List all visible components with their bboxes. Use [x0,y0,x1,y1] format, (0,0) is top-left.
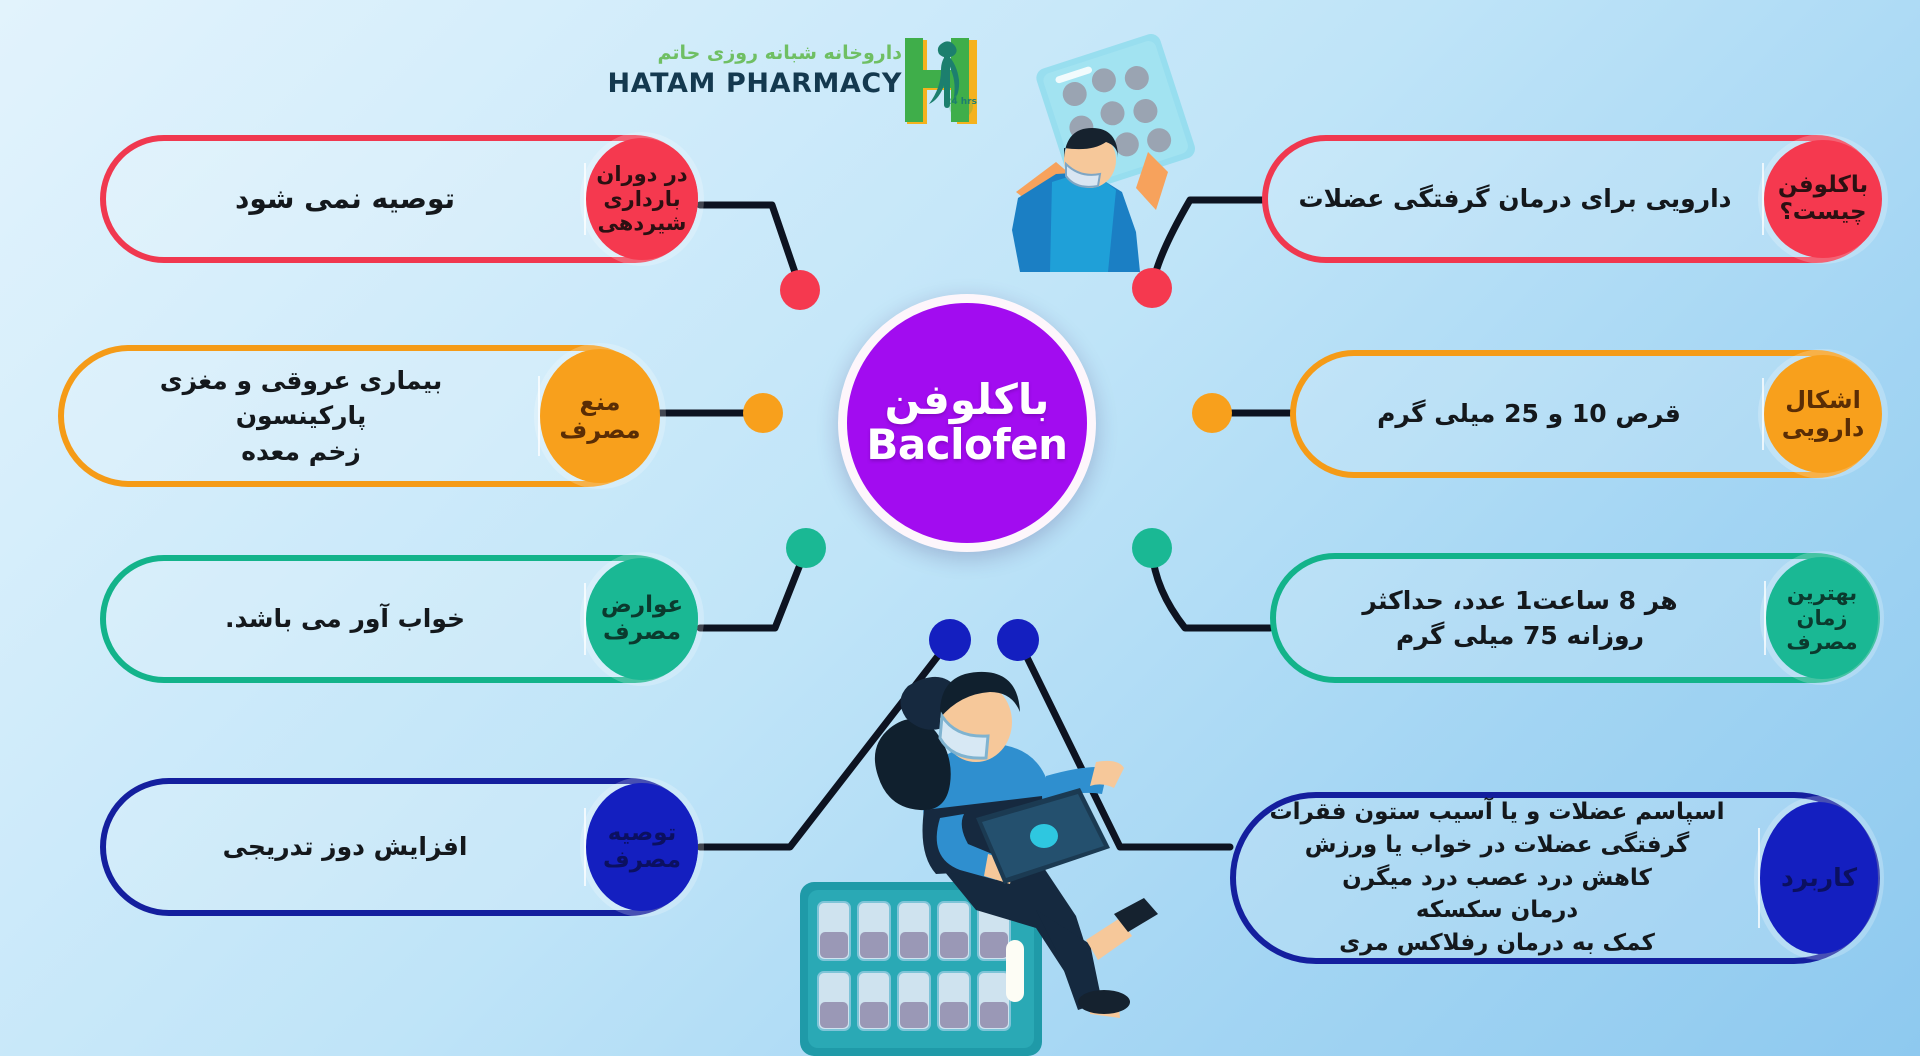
card-right-2-text: قرص 10 و 25 میلی گرم [1377,396,1681,432]
dot-left-pink [780,270,820,310]
card-left-2-badge[interactable]: منع مصرف [540,349,660,483]
card-right-4-body: اسپاسم عضلات و یا آسیب ستون فقرات گرفتگی… [1236,798,1758,958]
card-left-2[interactable]: بیماری عروقی و مغزی پارکینسون زخم معده م… [58,345,658,487]
dot-left-orange [743,393,783,433]
card-left-3-body: خواب آور می باشد. [106,561,584,677]
card-right-3-text: هر 8 ساعت1 عدد، حداکثر روزانه 75 میلی گر… [1362,583,1677,654]
illustration-woman-laptop-on-blister [790,610,1210,1056]
card-right-4-badge[interactable]: کاربرد [1760,802,1878,954]
center-node: باکلوفن Baclofen [838,294,1096,552]
card-left-4[interactable]: افزایش دوز تدریجی توصیه مصرف [100,778,698,916]
brand-name-en: HATAM PHARMACY [608,68,902,99]
card-left-1-badge-label: در دوران بارداری شیردهی [596,162,687,236]
card-right-1-body: دارویی برای درمان گرفتگی عضلات [1268,141,1762,257]
card-left-2-badge-label: منع مصرف [540,388,660,445]
card-left-2-text: بیماری عروقی و مغزی پارکینسون زخم معده [160,363,443,470]
card-right-4-badge-label: کاربرد [1781,863,1857,893]
card-right-1-badge[interactable]: باکلوفن چیست؟ [1764,140,1882,258]
card-left-4-badge[interactable]: توصیه مصرف [586,783,698,911]
card-left-3-text: خواب آور می باشد. [225,601,465,637]
card-left-1[interactable]: توصیه نمی شود در دوران بارداری شیردهی [100,135,698,263]
card-right-1-badge-label: باکلوفن چیست؟ [1778,172,1868,226]
card-left-2-body: بیماری عروقی و مغزی پارکینسون زخم معده [64,351,538,481]
card-right-1[interactable]: دارویی برای درمان گرفتگی عضلات باکلوفن چ… [1262,135,1880,263]
card-left-3-badge-label: عوارض مصرف [601,592,683,646]
card-left-1-body: توصیه نمی شود [106,141,584,257]
center-title-en: Baclofen [866,422,1067,468]
card-right-4-text: اسپاسم عضلات و یا آسیب ستون فقرات گرفتگی… [1270,796,1725,959]
card-right-3-badge[interactable]: بهترین زمان مصرف [1766,557,1878,679]
card-right-3-body: هر 8 ساعت1 عدد، حداکثر روزانه 75 میلی گر… [1276,559,1764,677]
pharmacy-mark-icon: 24 hrs [901,36,996,128]
card-left-3[interactable]: خواب آور می باشد. عوارض مصرف [100,555,698,683]
card-right-2-body: قرص 10 و 25 میلی گرم [1296,356,1762,472]
center-title-fa: باکلوفن [885,378,1050,422]
illustration-man-holding-blister [990,22,1220,272]
badge-24: 24 hrs [945,97,977,107]
card-left-4-text: افزایش دوز تدریجی [223,829,468,865]
card-left-1-badge[interactable]: در دوران بارداری شیردهی [586,138,698,260]
card-right-3[interactable]: هر 8 ساعت1 عدد، حداکثر روزانه 75 میلی گر… [1270,553,1880,683]
card-right-2[interactable]: قرص 10 و 25 میلی گرم اشکال دارویی [1290,350,1880,478]
dot-right-orange [1192,393,1232,433]
card-right-3-badge-label: بهترین زمان مصرف [1786,581,1857,655]
card-right-2-badge-label: اشکال دارویی [1782,386,1865,443]
card-left-3-badge[interactable]: عوارض مصرف [586,558,698,680]
brand-name-fa: داروخانه شبانه روزی حاتم [657,42,902,64]
infographic-canvas: باکلوفن Baclofen داروخانه شبانه روزی حات… [0,0,1920,1056]
card-right-4[interactable]: اسپاسم عضلات و یا آسیب ستون فقرات گرفتگی… [1230,792,1880,964]
dot-left-teal [786,528,826,568]
card-left-4-body: افزایش دوز تدریجی [106,784,584,910]
wire-left-pink [700,205,800,287]
brand-logo: داروخانه شبانه روزی حاتم HATAM PHARMACY … [660,34,990,140]
card-left-1-text: توصیه نمی شود [235,179,455,219]
dot-right-pink [1132,268,1172,308]
card-right-2-badge[interactable]: اشکال دارویی [1764,355,1882,473]
card-left-4-badge-label: توصیه مصرف [603,820,681,874]
card-right-1-text: دارویی برای درمان گرفتگی عضلات [1299,181,1732,217]
dot-right-teal [1132,528,1172,568]
